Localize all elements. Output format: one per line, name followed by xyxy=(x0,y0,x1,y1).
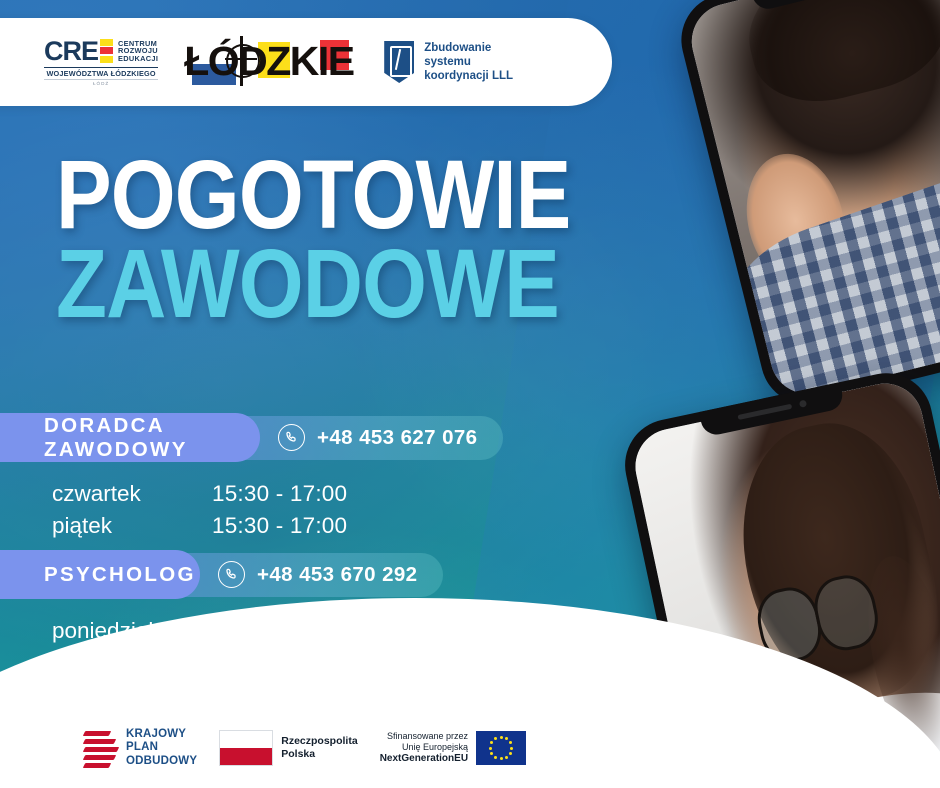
logo-lll-line-2: systemu xyxy=(424,55,513,69)
disclaimer-vertical-text: „Zbudowanie systemu koordynacji i monito… xyxy=(895,0,940,788)
contact-row-psycholog: PSYCHOLOG +48 453 670 292 xyxy=(0,550,443,599)
phone-badge-psycholog[interactable]: +48 453 670 292 xyxy=(174,553,443,597)
phone-number-psycholog: +48 453 670 292 xyxy=(257,563,417,587)
footer-logo-strip: KRAJOWY PLAN ODBUDOWY Rzeczpospolita Pol… xyxy=(84,718,494,778)
eu-star-icon xyxy=(490,741,493,744)
logo-eu-line-1: Sfinansowane przez xyxy=(380,731,468,742)
logo-lodzkie-circle-mark xyxy=(226,44,260,78)
logo-cre-city: ŁÓDŹ xyxy=(44,79,158,86)
logo-lll-text: Zbudowanie systemu koordynacji LLL xyxy=(424,41,513,83)
eu-star-icon xyxy=(500,736,503,739)
phone-handset-icon xyxy=(278,424,305,451)
logo-lodzkie-horizontal-rule xyxy=(225,58,257,60)
logo-lll-line-1: Zbudowanie xyxy=(424,41,513,55)
logo-pl-text: Rzeczpospolita Polska xyxy=(281,735,357,760)
role-badge-doradca-zawodowy: DORADCA ZAWODOWY xyxy=(0,413,260,462)
eu-star-icon xyxy=(509,741,512,744)
logo-pl-line-2: Polska xyxy=(281,748,357,761)
schedule-hours: 15:30 - 17:00 xyxy=(212,478,347,510)
role-badge-psycholog: PSYCHOLOG xyxy=(0,550,200,599)
logo-kpo-text: KRAJOWY PLAN ODBUDOWY xyxy=(126,728,197,769)
logo-rzeczpospolita-polska: Rzeczpospolita Polska xyxy=(219,730,357,766)
phone-number-doradca-zawodowy: +48 453 627 076 xyxy=(317,426,477,450)
logo-lll: Zbudowanie systemu koordynacji LLL xyxy=(384,41,513,83)
poland-flag-icon xyxy=(219,730,273,766)
schedule-doradca-zawodowy: czwartek 15:30 - 17:00 piątek 15:30 - 17… xyxy=(52,478,347,542)
schedule-row: piątek 15:30 - 17:00 xyxy=(52,510,347,542)
logo-pl-line-1: Rzeczpospolita xyxy=(281,735,357,748)
eu-star-icon xyxy=(505,737,508,740)
contact-row-doradca-zawodowy: DORADCA ZAWODOWY +48 453 627 076 xyxy=(0,413,503,462)
schedule-row: czwartek 15:30 - 17:00 xyxy=(52,478,347,510)
eu-star-icon xyxy=(509,752,512,755)
eu-flag-icon xyxy=(476,731,526,765)
logo-cre: CRE CENTRUM ROZWOJU EDUKACJI WOJEWÓDZTWA… xyxy=(44,38,158,87)
logo-eu-text: Sfinansowane przez Unię Europejską NextG… xyxy=(380,731,468,765)
phone-badge-doradca-zawodowy[interactable]: +48 453 627 076 xyxy=(234,416,503,460)
kpo-mark-icon xyxy=(84,729,118,767)
logo-cre-footer: WOJEWÓDZTWA ŁÓDZKIEGO xyxy=(44,67,158,79)
eu-star-icon xyxy=(505,756,508,759)
logo-cre-subtitle: CENTRUM ROZWOJU EDUKACJI xyxy=(118,40,158,63)
logo-cre-line-3: EDUKACJI xyxy=(118,55,158,63)
logo-lodzkie-vertical-rule xyxy=(240,36,242,86)
eu-star-icon xyxy=(490,752,493,755)
logo-kpo-line-2: PLAN xyxy=(126,741,197,755)
logo-cre-acronym: CRE xyxy=(44,38,98,65)
logo-lodzkie-wordmark: ŁÓDZKIE xyxy=(184,35,353,87)
speaker-slot-icon xyxy=(737,403,791,419)
title-line-2: ZAWODOWE xyxy=(56,241,570,326)
header-logo-bar: CRE CENTRUM ROZWOJU EDUKACJI WOJEWÓDZTWA… xyxy=(0,18,612,106)
logo-kpo-line-3: ODBUDOWY xyxy=(126,755,197,769)
page-title: POGOTOWIE ZAWODOWE xyxy=(56,152,654,327)
title-line-1: POGOTOWIE xyxy=(56,152,570,237)
phone-handset-icon xyxy=(218,561,245,588)
schedule-day: piątek xyxy=(52,510,212,542)
logo-cre-color-bars xyxy=(100,39,113,65)
front-camera-icon xyxy=(798,399,806,407)
logo-eu-line-2: Unię Europejską xyxy=(380,742,468,753)
logo-lll-line-3: koordynacji LLL xyxy=(424,69,513,83)
schedule-hours: 15:30 - 17:00 xyxy=(212,510,347,542)
eu-star-icon xyxy=(494,737,497,740)
logo-cre-top-row: CRE CENTRUM ROZWOJU EDUKACJI xyxy=(44,38,158,65)
schedule-day: czwartek xyxy=(52,478,212,510)
poster-canvas: CRE CENTRUM ROZWOJU EDUKACJI WOJEWÓDZTWA… xyxy=(0,0,940,788)
logo-kpo-line-1: KRAJOWY xyxy=(126,728,197,742)
eu-star-icon xyxy=(510,747,513,750)
logo-lodzkie: ŁÓDZKIE xyxy=(184,36,352,88)
eu-star-icon xyxy=(500,757,503,760)
book-icon xyxy=(384,41,414,83)
eu-star-icon xyxy=(489,747,492,750)
eu-star-icon xyxy=(494,756,497,759)
logo-eu-line-3: NextGenerationEU xyxy=(380,753,468,765)
logo-european-union: Sfinansowane przez Unię Europejską NextG… xyxy=(380,731,526,765)
logo-krajowy-plan-odbudowy: KRAJOWY PLAN ODBUDOWY xyxy=(84,728,197,769)
